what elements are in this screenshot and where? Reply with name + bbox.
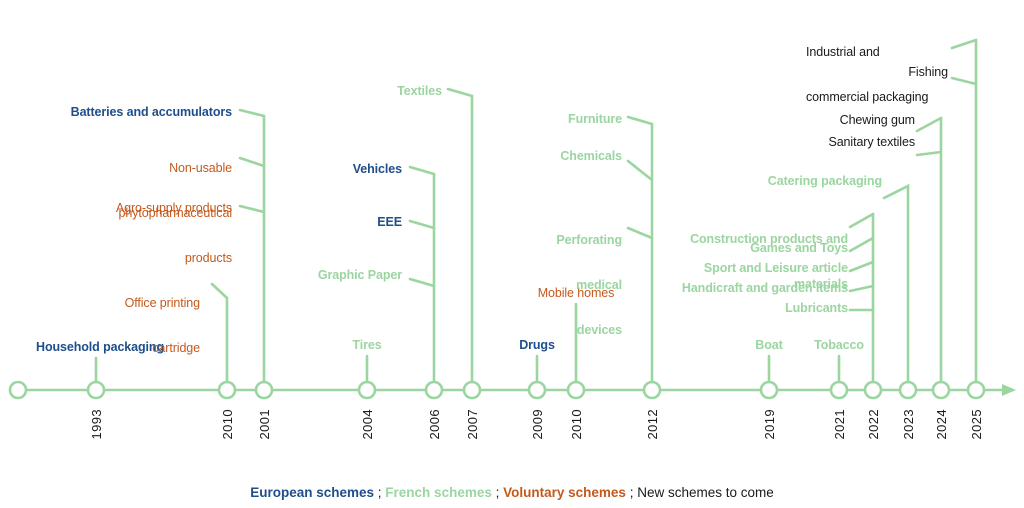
year-tick-2001: 2001 — [257, 409, 272, 440]
legend-item-french: French schemes — [385, 485, 492, 500]
timeline-node-2010a — [219, 382, 235, 398]
timeline-node-2009 — [529, 382, 545, 398]
label-perforating-medical-devices: Perforating medical devices — [500, 203, 622, 368]
label-furniture: Furniture — [470, 112, 622, 127]
timeline-node-2001 — [256, 382, 272, 398]
axis-arrowhead — [1002, 384, 1016, 396]
year-tick-2023: 2023 — [901, 409, 916, 440]
connector-2023-stem — [884, 186, 908, 382]
connector-2022-games — [850, 238, 873, 251]
timeline-node-2022 — [865, 382, 881, 398]
timeline-node-start — [10, 382, 26, 398]
connector-2012-chemicals — [628, 161, 652, 180]
legend-item-european: European schemes — [250, 485, 374, 500]
label-vehicles: Vehicles — [250, 162, 402, 177]
label-industrial-line1: Industrial and — [806, 45, 956, 60]
label-games-and-toys: Games and Toys — [630, 241, 848, 256]
legend-separator-1: ; — [374, 485, 385, 500]
label-perforating-line3: devices — [500, 323, 622, 338]
connector-2001-agro — [240, 206, 264, 212]
label-tires: Tires — [327, 338, 407, 353]
label-agro-supply-products: Agro-supply products — [60, 201, 232, 216]
connector-2007-stem — [448, 89, 472, 382]
timeline-node-2019 — [761, 382, 777, 398]
timeline-node-2025 — [968, 382, 984, 398]
label-handicraft-and-garden-items: Handicraft and garden items — [630, 281, 848, 296]
connector-2022-construction — [850, 214, 873, 227]
year-tick-2010a: 2010 — [220, 409, 235, 440]
timeline-node-2010b — [568, 382, 584, 398]
connector-2022-handicraft — [850, 286, 873, 291]
year-tick-2012: 2012 — [645, 409, 660, 440]
year-tick-1993: 1993 — [89, 409, 104, 440]
year-tick-2019: 2019 — [762, 409, 777, 440]
timeline-node-2012 — [644, 382, 660, 398]
year-tick-2024: 2024 — [934, 409, 949, 440]
label-batteries-and-accumulators: Batteries and accumulators — [10, 105, 232, 120]
connector-2022-sport — [850, 262, 873, 271]
year-tick-2009: 2009 — [530, 409, 545, 440]
legend-item-voluntary: Voluntary schemes — [503, 485, 626, 500]
year-tick-2007: 2007 — [465, 409, 480, 440]
label-chemicals: Chemicals — [470, 149, 622, 164]
timeline-node-2024 — [933, 382, 949, 398]
legend-separator-3: ; — [626, 485, 637, 500]
label-textiles: Textiles — [290, 84, 442, 99]
legend-separator-2: ; — [492, 485, 503, 500]
label-tobacco: Tobacco — [799, 338, 879, 353]
label-graphic-paper: Graphic Paper — [250, 268, 402, 283]
year-tick-2025: 2025 — [969, 409, 984, 440]
year-tick-2004: 2004 — [360, 409, 375, 440]
timeline-node-2007 — [464, 382, 480, 398]
label-catering-packaging: Catering packaging — [700, 174, 882, 189]
connector-2012-furniture — [628, 117, 652, 124]
label-perforating-line2: medical — [500, 278, 622, 293]
connector-2006-eee — [410, 221, 434, 228]
label-phyto-line3: products — [50, 251, 232, 266]
label-perforating-line1: Perforating — [500, 233, 622, 248]
connector-2001-batteries — [240, 110, 264, 116]
label-lubricants: Lubricants — [630, 301, 848, 316]
timeline-node-2023 — [900, 382, 916, 398]
connector-2006-vehicles — [410, 167, 434, 174]
legend: European schemes ; French schemes ; Volu… — [0, 485, 1024, 500]
legend-item-upcoming: New schemes to come — [637, 485, 774, 500]
label-fishing: Fishing — [800, 65, 948, 80]
timeline-node-2021 — [831, 382, 847, 398]
label-eee: EEE — [250, 215, 402, 230]
year-tick-2006: 2006 — [427, 409, 442, 440]
year-tick-2010b: 2010 — [569, 409, 584, 440]
label-office-printing-line1: Office printing — [60, 296, 200, 311]
label-sanitary-textiles: Sanitary textiles — [740, 135, 915, 150]
connector-2010a — [212, 284, 227, 382]
timeline-node-2004 — [359, 382, 375, 398]
label-office-printing-line2: cartridge — [60, 341, 200, 356]
connector-2024-sanitary — [917, 152, 941, 155]
label-sport-and-leisure-article: Sport and Leisure article — [630, 261, 848, 276]
label-phyto-line1: Non-usable — [50, 161, 232, 176]
timeline-infographic: Household packaging Office printing cart… — [0, 0, 1024, 508]
connector-2006-graphic — [410, 279, 434, 286]
year-tick-2022: 2022 — [866, 409, 881, 440]
year-tick-2021: 2021 — [832, 409, 847, 440]
label-boat: Boat — [729, 338, 809, 353]
timeline-node-2006 — [426, 382, 442, 398]
label-industrial-line2: commercial packaging — [806, 90, 956, 105]
